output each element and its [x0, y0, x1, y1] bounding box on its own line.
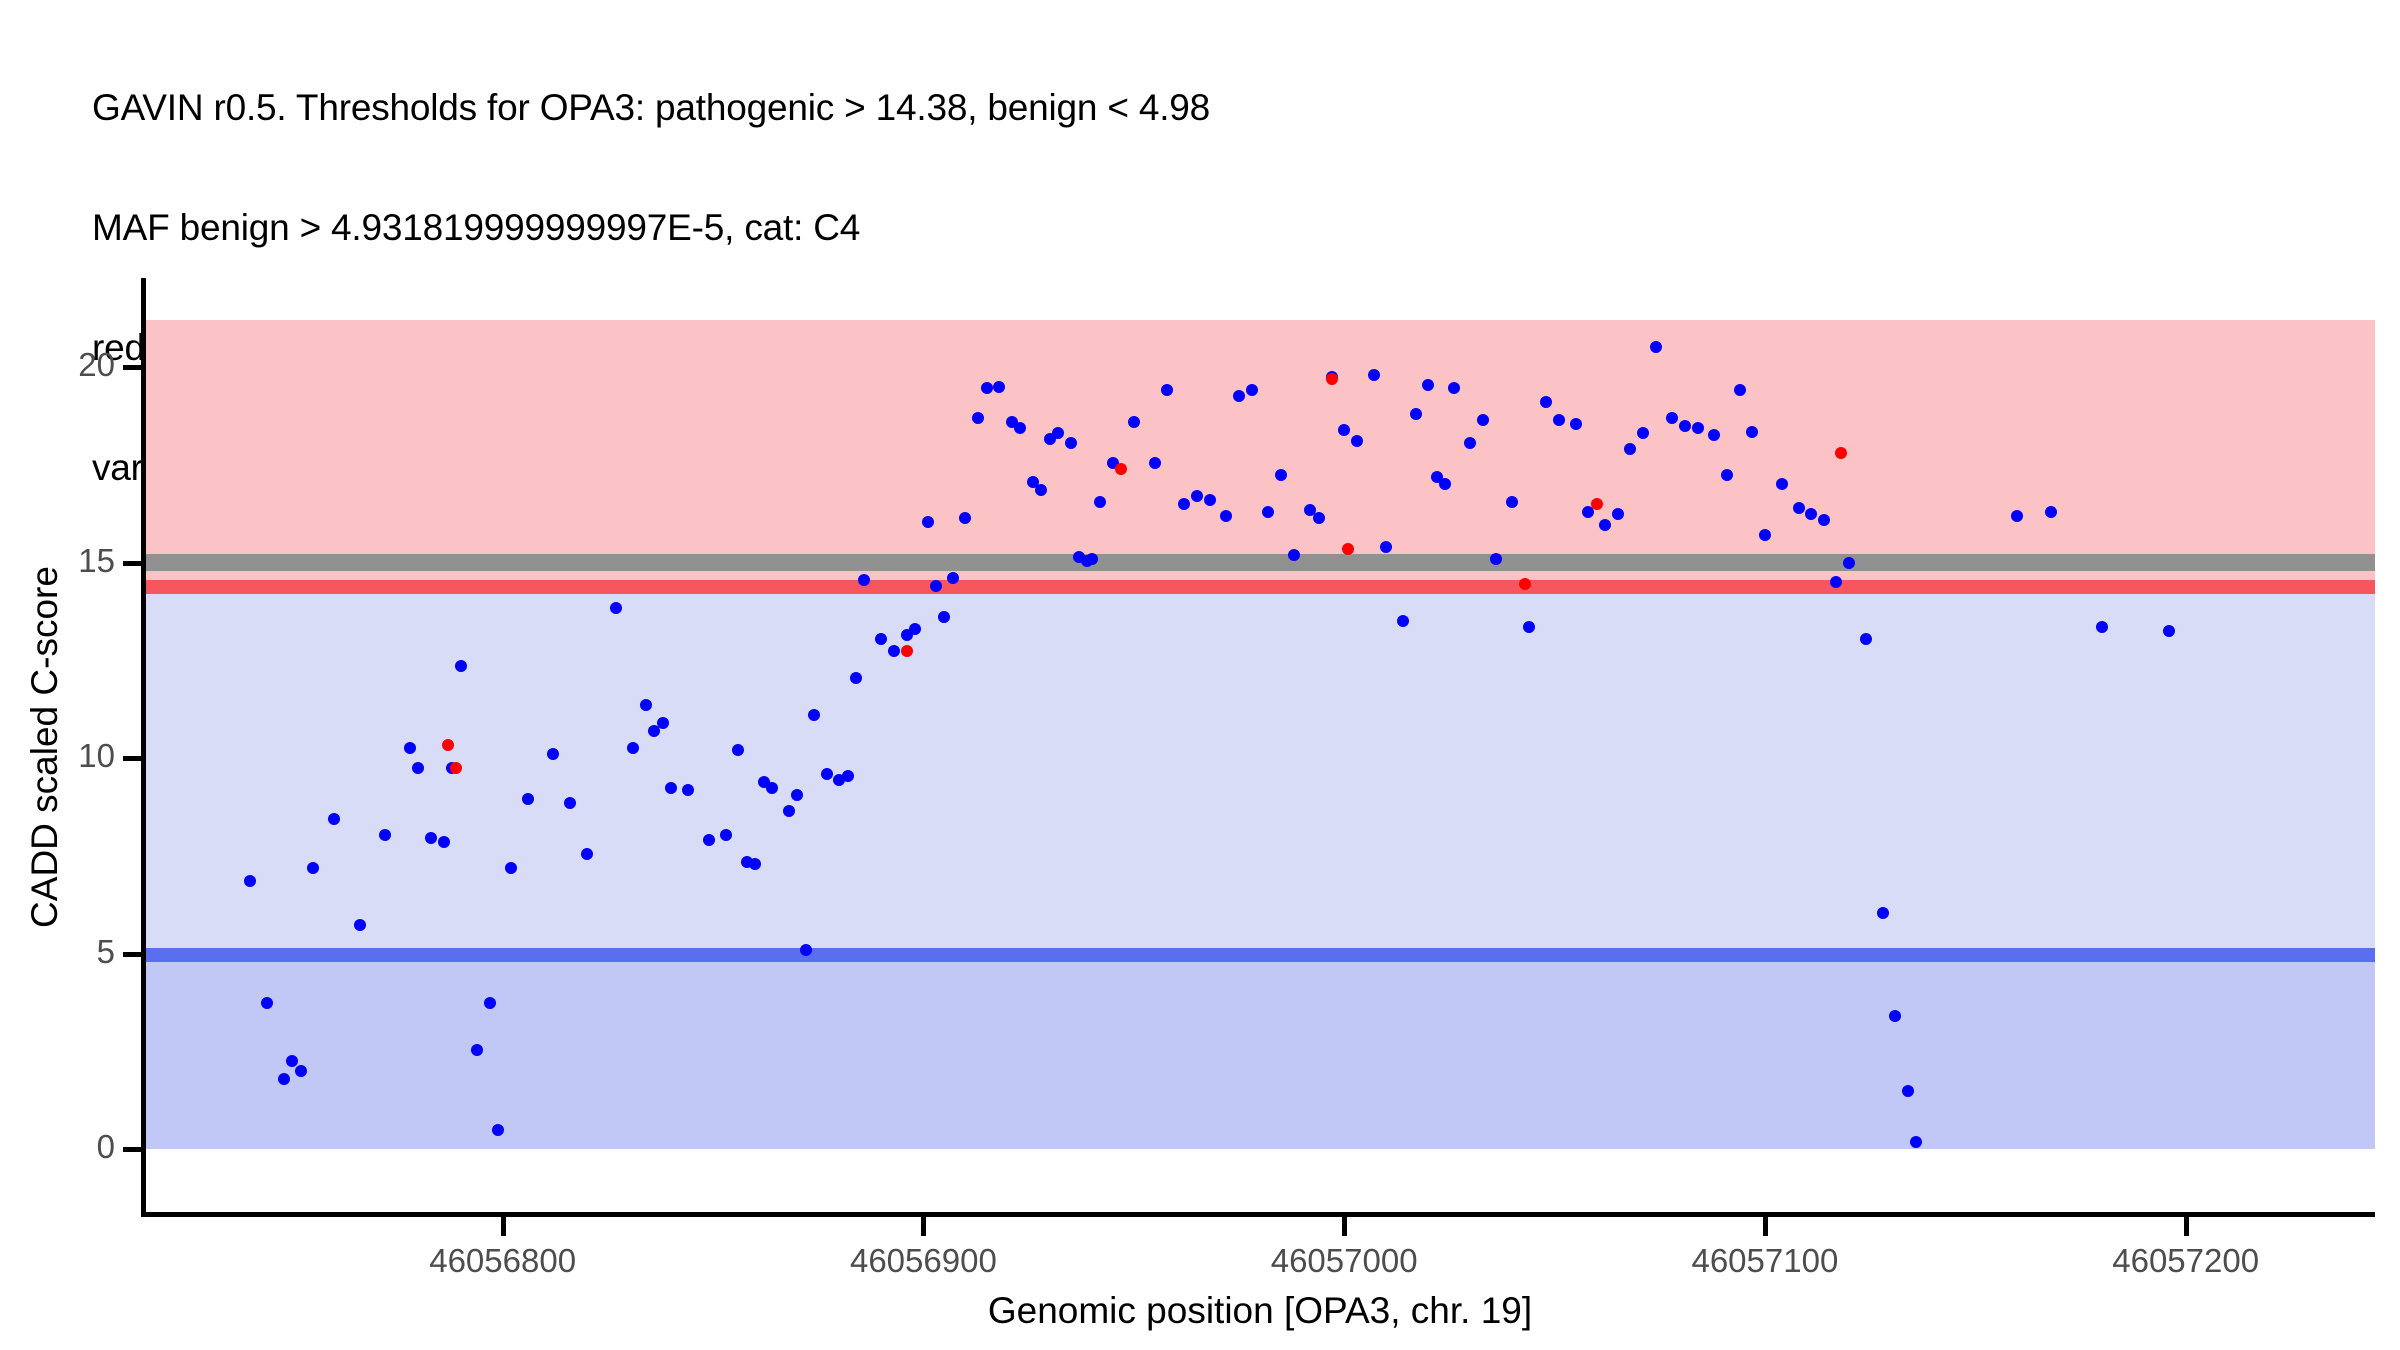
gnomad-variant-point: [1313, 512, 1325, 524]
clinvar-pathogenic-point: [1342, 543, 1354, 555]
gnomad-variant-point: [1128, 416, 1140, 428]
clinvar-pathogenic-point: [901, 645, 913, 657]
gnomad-variant-point: [354, 919, 366, 931]
y-tick-mark: [123, 365, 142, 370]
title-line-2: MAF benign > 4.931819999999997E-5, cat: …: [92, 208, 2352, 248]
gnomad-variant-point: [484, 997, 496, 1009]
gnomad-variant-point: [1708, 429, 1720, 441]
gnomad-variant-point: [1422, 379, 1434, 391]
gnomad-variant-point: [547, 748, 559, 760]
gnomad-variant-point: [922, 516, 934, 528]
gnomad-variant-point: [1178, 498, 1190, 510]
gnomad-variant-point: [328, 813, 340, 825]
x-tick-label: 46057200: [2112, 1242, 2259, 1280]
gnomad-variant-point: [2045, 506, 2057, 518]
clinvar-pathogenic-point: [1591, 498, 1603, 510]
gnomad-variant-point: [1721, 469, 1733, 481]
pathogenic-threshold-line: [145, 580, 2375, 594]
gnomad-variant-point: [981, 382, 993, 394]
y-tick-mark: [123, 756, 142, 761]
gnomad-variant-point: [888, 645, 900, 657]
benign-threshold-line: [145, 948, 2375, 962]
gnomad-variant-point: [1506, 496, 1518, 508]
gnomad-variant-point: [2011, 510, 2023, 522]
x-tick-label: 46057000: [1271, 1242, 1418, 1280]
gnomad-variant-point: [1477, 414, 1489, 426]
gnomad-variant-point: [1410, 408, 1422, 420]
gnomad-variant-point: [1843, 557, 1855, 569]
gnomad-variant-point: [1746, 426, 1758, 438]
gnomad-variant-point: [425, 832, 437, 844]
clinvar-pathogenic-point: [450, 762, 462, 774]
gnomad-variant-point: [1380, 541, 1392, 553]
gnomad-variant-point: [1275, 469, 1287, 481]
x-axis-line: [141, 1212, 2375, 1217]
gnomad-variant-point: [1149, 457, 1161, 469]
gnomad-variant-point: [850, 672, 862, 684]
gnomad-variant-point: [930, 580, 942, 592]
gnomad-variant-point: [1860, 633, 1872, 645]
x-axis-title: Genomic position [OPA3, chr. 19]: [145, 1290, 2375, 1332]
gnomad-variant-point: [1490, 553, 1502, 565]
y-axis-line: [141, 278, 146, 1215]
gnomad-variant-point: [1397, 615, 1409, 627]
gnomad-variant-point: [1439, 478, 1451, 490]
y-tick-label: 10: [78, 737, 115, 775]
gnomad-variant-point: [959, 512, 971, 524]
gnomad-variant-point: [1776, 478, 1788, 490]
gnomad-variant-point: [1818, 514, 1830, 526]
gnomad-variant-point: [1877, 907, 1889, 919]
gnomad-variant-point: [842, 770, 854, 782]
gnomad-variant-point: [1052, 427, 1064, 439]
gnomad-variant-point: [1262, 506, 1274, 518]
gnomad-variant-point: [505, 862, 517, 874]
gnomad-variant-point: [1612, 508, 1624, 520]
clinvar-pathogenic-point: [1115, 463, 1127, 475]
gnomad-variant-point: [1889, 1010, 1901, 1022]
gnomad-variant-point: [2163, 625, 2175, 637]
gnomad-variant-point: [379, 829, 391, 841]
gnomad-variant-point: [627, 742, 639, 754]
gnomad-variant-point: [657, 717, 669, 729]
gnomad-variant-point: [610, 602, 622, 614]
gnomad-variant-point: [1204, 494, 1216, 506]
gnomad-variant-point: [1191, 490, 1203, 502]
gnomad-variant-point: [821, 768, 833, 780]
x-tick-label: 46057100: [1691, 1242, 1838, 1280]
gnomad-variant-point: [1666, 412, 1678, 424]
gnomad-variant-point: [993, 381, 1005, 393]
x-tick-mark: [501, 1217, 506, 1236]
gnomad-variant-point: [1902, 1085, 1914, 1097]
gnomad-variant-point: [1637, 427, 1649, 439]
gnomad-variant-point: [471, 1044, 483, 1056]
gnomad-variant-point: [1523, 621, 1535, 633]
y-tick-mark: [123, 561, 142, 566]
y-tick-mark: [123, 1147, 142, 1152]
gnomad-variant-point: [1368, 369, 1380, 381]
gnomad-variant-point: [665, 782, 677, 794]
gnomad-variant-point: [1910, 1136, 1922, 1148]
gnomad-variant-point: [640, 699, 652, 711]
gnomad-variant-point: [1570, 418, 1582, 430]
gnomad-variant-point: [1448, 382, 1460, 394]
gnomad-variant-point: [438, 836, 450, 848]
y-axis-title: CADD scaled C-score: [24, 277, 70, 1217]
gnomad-variant-point: [1351, 435, 1363, 447]
y-tick-label: 20: [78, 346, 115, 384]
gnomad-variant-point: [808, 709, 820, 721]
gnomad-variant-point: [749, 858, 761, 870]
gnomad-variant-point: [564, 797, 576, 809]
gnomad-variant-point: [791, 789, 803, 801]
clinvar-pathogenic-point: [1835, 447, 1847, 459]
y-tick-label: 15: [78, 542, 115, 580]
gnomad-variant-point: [278, 1073, 290, 1085]
gnomad-variant-point: [1246, 384, 1258, 396]
gnomad-variant-point: [732, 744, 744, 756]
gnomad-variant-point: [412, 762, 424, 774]
plot-root: GAVIN r0.5. Thresholds for OPA3: pathoge…: [0, 0, 2400, 1350]
gnomad-variant-point: [1830, 576, 1842, 588]
y-tick-mark: [123, 952, 142, 957]
gnomad-variant-point: [2096, 621, 2108, 633]
gnomad-variant-point: [492, 1124, 504, 1136]
gnomad-variant-point: [1793, 502, 1805, 514]
gnomad-variant-point: [404, 742, 416, 754]
x-tick-label: 46056900: [850, 1242, 997, 1280]
gnomad-variant-point: [455, 660, 467, 672]
pathogenic-band: [145, 320, 2375, 587]
gnomad-variant-point: [1679, 420, 1691, 432]
fallback-threshold-line: [145, 554, 2375, 571]
benign-band: [145, 587, 2375, 955]
gnomad-variant-point: [581, 848, 593, 860]
gnomad-variant-point: [1624, 443, 1636, 455]
x-tick-mark: [2184, 1217, 2189, 1236]
gnomad-variant-point: [1650, 341, 1662, 353]
gnomad-variant-point: [307, 862, 319, 874]
clinvar-pathogenic-point: [1326, 373, 1338, 385]
gnomad-variant-point: [1805, 508, 1817, 520]
gnomad-variant-point: [1233, 390, 1245, 402]
gnomad-variant-point: [295, 1065, 307, 1077]
gnomad-variant-point: [1734, 384, 1746, 396]
x-tick-mark: [921, 1217, 926, 1236]
x-tick-mark: [1763, 1217, 1768, 1236]
gnomad-variant-point: [720, 829, 732, 841]
gnomad-variant-point: [682, 784, 694, 796]
gnomad-variant-point: [1065, 437, 1077, 449]
gnomad-variant-point: [1599, 519, 1611, 531]
gnomad-variant-point: [800, 944, 812, 956]
gnomad-variant-point: [1094, 496, 1106, 508]
gnomad-variant-point: [244, 875, 256, 887]
gnomad-variant-point: [1086, 553, 1098, 565]
x-tick-label: 46056800: [429, 1242, 576, 1280]
gnomad-variant-point: [1014, 422, 1026, 434]
gnomad-variant-point: [261, 997, 273, 1009]
gnomad-variant-point: [947, 572, 959, 584]
gnomad-variant-point: [1540, 396, 1552, 408]
gnomad-variant-point: [1692, 422, 1704, 434]
gnomad-variant-point: [783, 805, 795, 817]
y-tick-label: 0: [97, 1128, 115, 1166]
gnomad-variant-point: [1161, 384, 1173, 396]
gnomad-variant-point: [522, 793, 534, 805]
title-line-1: GAVIN r0.5. Thresholds for OPA3: pathoge…: [92, 88, 2352, 128]
gnomad-variant-point: [972, 412, 984, 424]
plot-panel: [145, 320, 2375, 1171]
gnomad-variant-point: [1759, 529, 1771, 541]
gnomad-variant-point: [909, 623, 921, 635]
gnomad-variant-point: [1220, 510, 1232, 522]
clinvar-pathogenic-point: [1519, 578, 1531, 590]
gnomad-variant-point: [1464, 437, 1476, 449]
gnomad-variant-point: [1288, 549, 1300, 561]
gnomad-variant-point: [858, 574, 870, 586]
y-tick-label: 5: [97, 933, 115, 971]
x-tick-mark: [1342, 1217, 1347, 1236]
gnomad-variant-point: [1553, 414, 1565, 426]
clinvar-pathogenic-point: [442, 739, 454, 751]
gnomad-variant-point: [875, 633, 887, 645]
gnomad-variant-point: [766, 782, 778, 794]
gnomad-variant-point: [938, 611, 950, 623]
gnomad-variant-point: [703, 834, 715, 846]
gnomad-variant-point: [1035, 484, 1047, 496]
gnomad-variant-point: [1338, 424, 1350, 436]
